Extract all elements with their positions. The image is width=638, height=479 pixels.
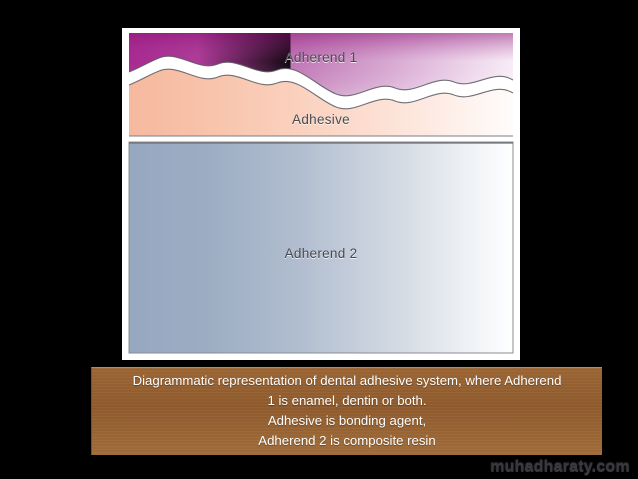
adherend-2-layer <box>129 142 513 353</box>
caption-line: Adherend 2 is composite resin <box>258 431 435 451</box>
caption-line: 1 is enamel, dentin or both. <box>267 391 426 411</box>
watermark: muhadharaty.com <box>482 455 638 479</box>
caption-line: Diagrammatic representation of dental ad… <box>133 371 562 391</box>
diagram-panel: Adherend 1 Adhesive Adherend 2 <box>122 28 520 360</box>
caption-line: Adhesive is bonding agent, <box>268 411 426 431</box>
caption-box: Diagrammatic representation of dental ad… <box>91 367 602 455</box>
watermark-text: muhadharaty.com <box>490 458 630 476</box>
adhesive-system-diagram <box>122 28 520 360</box>
slide-canvas: Adherend 1 Adhesive Adherend 2 Diagramma… <box>0 0 638 479</box>
